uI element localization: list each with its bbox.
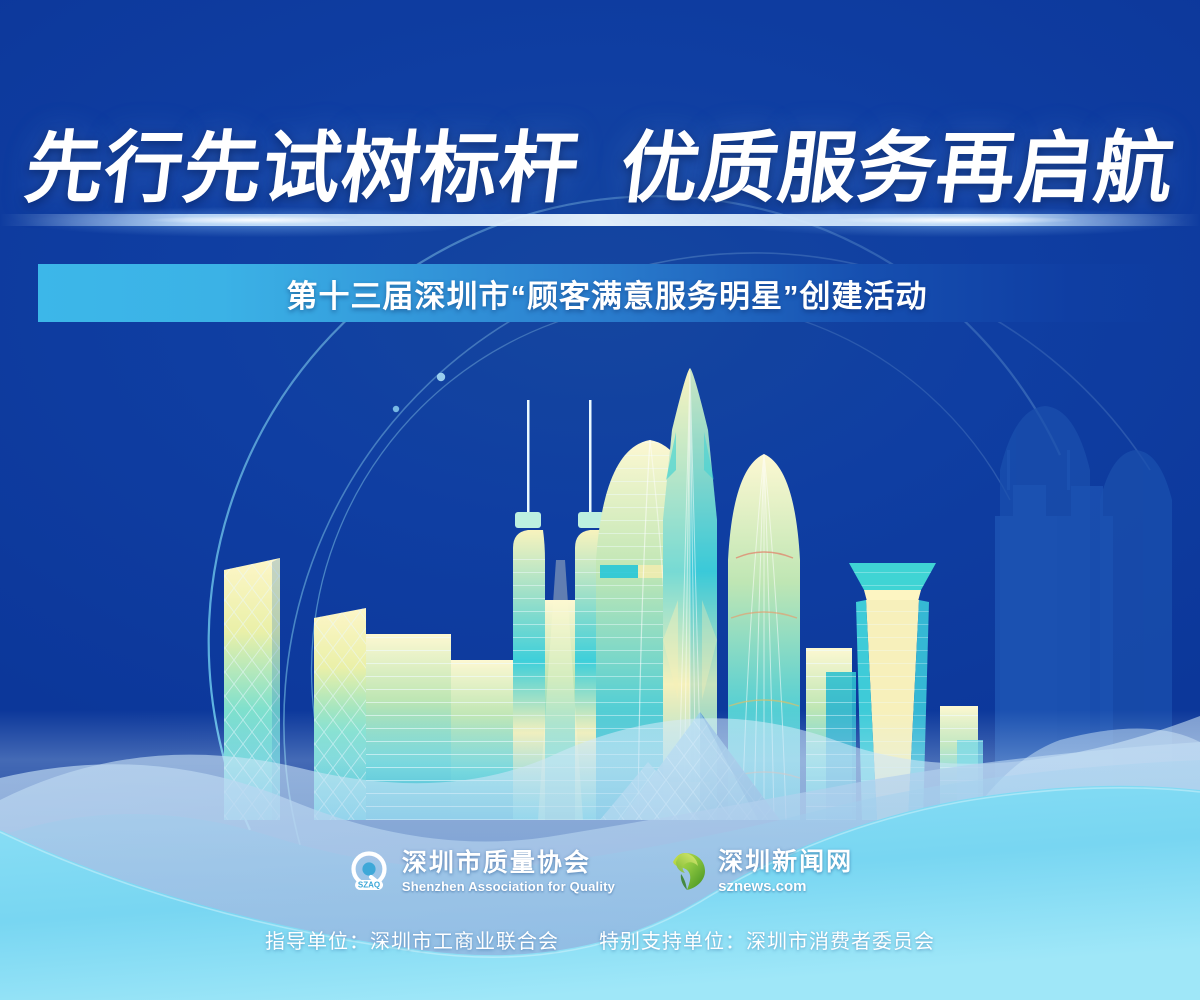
guidance-org: 深圳市工商业联合会 (370, 931, 559, 953)
guidance-label: 指导单位： (265, 931, 370, 953)
sznews-green-leaf-icon (661, 848, 709, 896)
sznews-name-en: sznews.com (718, 879, 853, 894)
title-line-1: 先行先试树标杆 (21, 124, 585, 212)
sznews-name-cn: 深圳新闻网 (718, 850, 853, 875)
credits-line: 指导单位：深圳市工商业联合会特别支持单位：深圳市消费者委员会 (0, 925, 1200, 954)
title-light-streak (0, 214, 1200, 226)
promotional-banner: 先行先试树标杆优质服务再启航 第十三届深圳市“顾客满意服务明星”创建活动 SZA… (0, 0, 1200, 1000)
sponsor-logos: SZAQ 深圳市质量协会 Shenzhen Association for Qu… (0, 848, 1200, 896)
subtitle-bar: 第十三届深圳市“顾客满意服务明星”创建活动 (38, 264, 1186, 322)
support-label: 特别支持单位： (599, 931, 746, 953)
title-line-2: 优质服务再启航 (616, 124, 1180, 212)
szaq-name-cn: 深圳市质量协会 (402, 851, 615, 876)
logo-shenzhen-association-for-quality[interactable]: SZAQ 深圳市质量协会 Shenzhen Association for Qu… (347, 849, 615, 895)
sznews-logo-text: 深圳新闻网 sznews.com (718, 850, 853, 894)
page-title: 先行先试树标杆优质服务再启航 (0, 126, 1200, 210)
title-area: 先行先试树标杆优质服务再启航 (0, 126, 1200, 210)
szaq-logo-text: 深圳市质量协会 Shenzhen Association for Quality (402, 851, 615, 893)
szaq-badge-text: SZAQ (358, 881, 380, 890)
subtitle-text: 第十三届深圳市“顾客满意服务明星”创建活动 (38, 271, 1186, 316)
support-org: 深圳市消费者委员会 (746, 931, 935, 953)
szaq-name-en: Shenzhen Association for Quality (402, 880, 615, 893)
szaq-circle-q-icon: SZAQ (347, 849, 393, 895)
logo-sznews[interactable]: 深圳新闻网 sznews.com (661, 848, 853, 896)
